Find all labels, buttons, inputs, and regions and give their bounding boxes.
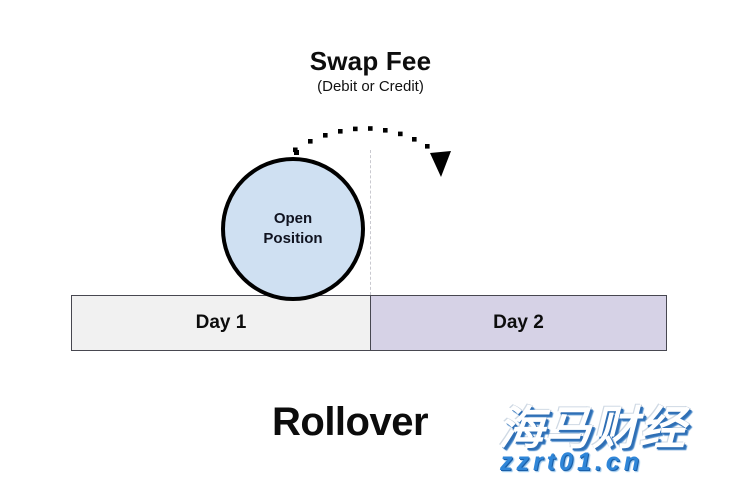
- open-position-circle: Open Position: [221, 157, 365, 301]
- open-position-label-line2: Position: [263, 229, 322, 249]
- diagram-canvas: Swap Fee (Debit or Credit) Open Position…: [0, 0, 741, 486]
- rollover-caption: Rollover: [272, 400, 428, 445]
- swap-fee-subtitle: (Debit or Credit): [0, 78, 741, 95]
- arc-start-dot-icon: [294, 150, 299, 155]
- day-divider-line: [370, 150, 371, 295]
- watermark-url: zzrt01.cn: [500, 448, 643, 477]
- open-position-label-line1: Open: [274, 209, 312, 229]
- timeline-segment-day-2: Day 2: [370, 295, 667, 351]
- timeline-bar: Day 1 Day 2: [71, 295, 668, 351]
- swap-fee-title: Swap Fee: [0, 46, 741, 77]
- watermark: 海马财经 zzrt01.cn: [498, 392, 730, 484]
- timeline-segment-day-1: Day 1: [71, 295, 371, 351]
